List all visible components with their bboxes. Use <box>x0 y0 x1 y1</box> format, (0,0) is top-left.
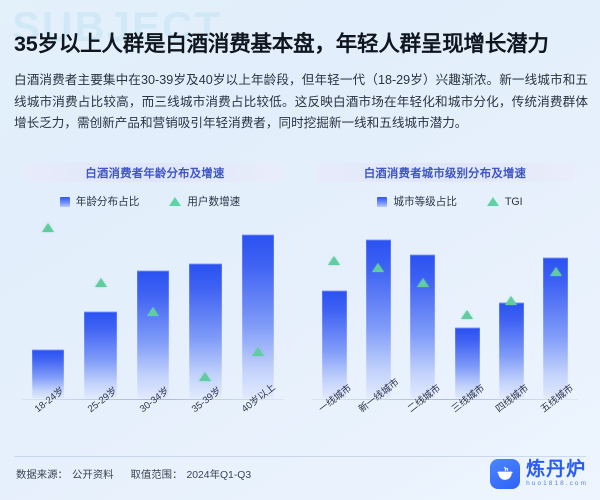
marker-triangle[interactable] <box>417 278 429 287</box>
bars-age <box>22 218 284 399</box>
x-axis-label: 二线城市 <box>401 402 445 450</box>
legend-label-bar: 城市等级占比 <box>393 194 457 209</box>
range-value: 2024年Q1-Q3 <box>186 466 251 481</box>
brand-url: huo1818.com <box>526 481 588 487</box>
marker-triangle[interactable] <box>461 310 473 319</box>
x-axis-label: 三线城市 <box>445 402 489 450</box>
x-axis-label: 四线城市 <box>489 402 533 450</box>
footer-meta: 数据来源： 公开资料 取值范围： 2024年Q1-Q3 <box>16 466 251 481</box>
x-axis-label: 新一线城市 <box>356 402 400 450</box>
brand-logo[interactable]: 炼丹炉 huo1818.com <box>490 459 588 489</box>
marker-triangle[interactable] <box>147 307 159 316</box>
x-labels-age: 18-24岁25-29岁30-34岁35-39岁40岁以上 <box>22 402 284 450</box>
bar[interactable] <box>543 257 568 399</box>
legend-item-bar[interactable]: 城市等级占比 <box>377 194 457 209</box>
x-axis-label: 25-29岁 <box>74 402 126 450</box>
bar-swatch-icon <box>377 197 387 207</box>
source-value: 公开资料 <box>72 466 114 481</box>
chart-title-age: 白酒消费者年龄分布及增速 <box>26 163 284 182</box>
legend-item-marker[interactable]: 用户数增速 <box>169 194 240 209</box>
bar-slot <box>127 218 179 399</box>
x-labels-city: 一线城市新一线城市二线城市三线城市四线城市五线城市 <box>312 402 578 450</box>
bar-slot <box>489 218 533 399</box>
infographic-page: SUBJECT 35岁以上人群是白酒消费基本盘，年轻人群呈现增长潜力 白酒消费者… <box>0 0 600 500</box>
x-axis-label: 18-24岁 <box>22 402 74 450</box>
brand-name: 炼丹炉 <box>526 460 588 479</box>
source-label: 数据来源： <box>16 466 68 481</box>
legend-label-bar: 年龄分布占比 <box>76 194 140 209</box>
bars-city <box>312 218 578 399</box>
bar-slot <box>232 218 284 399</box>
marker-triangle[interactable] <box>252 347 264 356</box>
bar[interactable] <box>410 254 435 399</box>
marker-triangle[interactable] <box>550 267 562 276</box>
plot-area-age <box>0 218 300 400</box>
bar-slot <box>179 218 231 399</box>
x-axis-label: 五线城市 <box>534 402 578 450</box>
x-axis-label: 35-39岁 <box>179 402 231 450</box>
legend-label-marker: 用户数增速 <box>187 194 240 209</box>
chart-title-city: 白酒消费者城市级别分布及增速 <box>316 163 574 182</box>
legend-label-marker: TGI <box>505 196 523 208</box>
bar-slot <box>356 218 400 399</box>
bar[interactable] <box>242 234 274 399</box>
charts-container: 白酒消费者年龄分布及增速 年龄分布占比 用户数增速 18-24岁25-29岁30… <box>0 158 600 450</box>
chart-legend-city: 城市等级占比 TGI <box>300 194 600 209</box>
bar-slot <box>534 218 578 399</box>
marker-triangle[interactable] <box>328 256 340 265</box>
x-axis-label: 一线城市 <box>312 402 356 450</box>
x-axis-label: 40岁以上 <box>232 402 284 450</box>
furnace-icon <box>490 459 520 489</box>
bar-slot <box>312 218 356 399</box>
bar[interactable] <box>137 270 169 399</box>
bar-slot <box>445 218 489 399</box>
bar-slot <box>74 218 126 399</box>
footer-divider <box>14 456 586 457</box>
marker-triangle[interactable] <box>95 278 107 287</box>
marker-triangle[interactable] <box>505 296 517 305</box>
chart-panel-age: 白酒消费者年龄分布及增速 年龄分布占比 用户数增速 18-24岁25-29岁30… <box>0 158 300 450</box>
chart-legend-age: 年龄分布占比 用户数增速 <box>0 194 300 209</box>
x-axis-label: 30-34岁 <box>127 402 179 450</box>
marker-triangle[interactable] <box>372 263 384 272</box>
summary-paragraph: 白酒消费者主要集中在30-39岁及40岁以上年龄段，但年轻一代（18-29岁）兴… <box>14 70 588 135</box>
bar-swatch-icon <box>60 197 70 207</box>
triangle-marker-icon <box>169 197 181 206</box>
legend-item-marker[interactable]: TGI <box>487 196 523 208</box>
marker-triangle[interactable] <box>199 372 211 381</box>
bar-slot <box>401 218 445 399</box>
marker-triangle[interactable] <box>42 223 54 232</box>
range-label: 取值范围： <box>131 466 183 481</box>
triangle-marker-icon <box>487 197 499 206</box>
chart-panel-city: 白酒消费者城市级别分布及增速 城市等级占比 TGI 一线城市新一线城市二线城市三… <box>300 158 600 450</box>
legend-item-bar[interactable]: 年龄分布占比 <box>60 194 140 209</box>
plot-area-city <box>300 218 600 400</box>
page-title: 35岁以上人群是白酒消费基本盘，年轻人群呈现增长潜力 <box>14 32 590 58</box>
bar-slot <box>22 218 74 399</box>
